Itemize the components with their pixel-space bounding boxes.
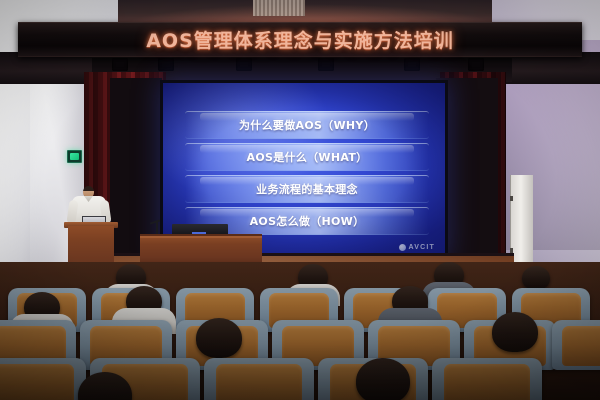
stage-light-icon <box>468 58 484 71</box>
seat-cushion <box>216 364 302 400</box>
stage-backdrop-left <box>110 78 162 258</box>
audience-member-head <box>196 318 242 358</box>
stage-light-icon <box>158 58 174 71</box>
seat[interactable] <box>0 358 86 400</box>
slide-bar-label: 业务流程的基本理念 <box>256 181 358 197</box>
led-banner: AOS管理体系理念与实施方法培训 <box>18 22 582 57</box>
stage-light-icon <box>112 58 128 71</box>
seat[interactable] <box>432 358 542 400</box>
seat[interactable] <box>552 320 600 370</box>
stage-light-icon <box>236 58 252 71</box>
slide-bar-label: 为什么要做AOS（WHY） <box>239 117 375 133</box>
audience-seating <box>0 262 600 400</box>
audience-member-head <box>356 358 410 400</box>
seat-cushion <box>562 326 600 366</box>
slide-bar-label: AOS怎么做（HOW） <box>250 213 365 229</box>
door-hinge-icon <box>510 196 513 201</box>
auditorium-photo: AOS管理体系理念与实施方法培训 为什么要做AOS（WHY） AOS是什么（WH… <box>0 0 600 400</box>
slide-bar-label: AOS是什么（WHAT） <box>247 149 368 165</box>
seat-cushion <box>0 364 74 400</box>
running-person-exit-icon <box>70 153 79 160</box>
audience-member-head <box>522 266 550 290</box>
emergency-exit-sign <box>67 150 82 163</box>
seat[interactable] <box>204 358 314 400</box>
audience-member-head <box>492 312 538 352</box>
banner-title-text: AOS管理体系理念与实施方法培训 <box>146 26 454 53</box>
ceiling-vent-icon <box>253 0 305 16</box>
stage-light-icon <box>318 58 334 71</box>
seat-cushion <box>444 364 530 400</box>
stage-light-icon <box>404 58 420 71</box>
